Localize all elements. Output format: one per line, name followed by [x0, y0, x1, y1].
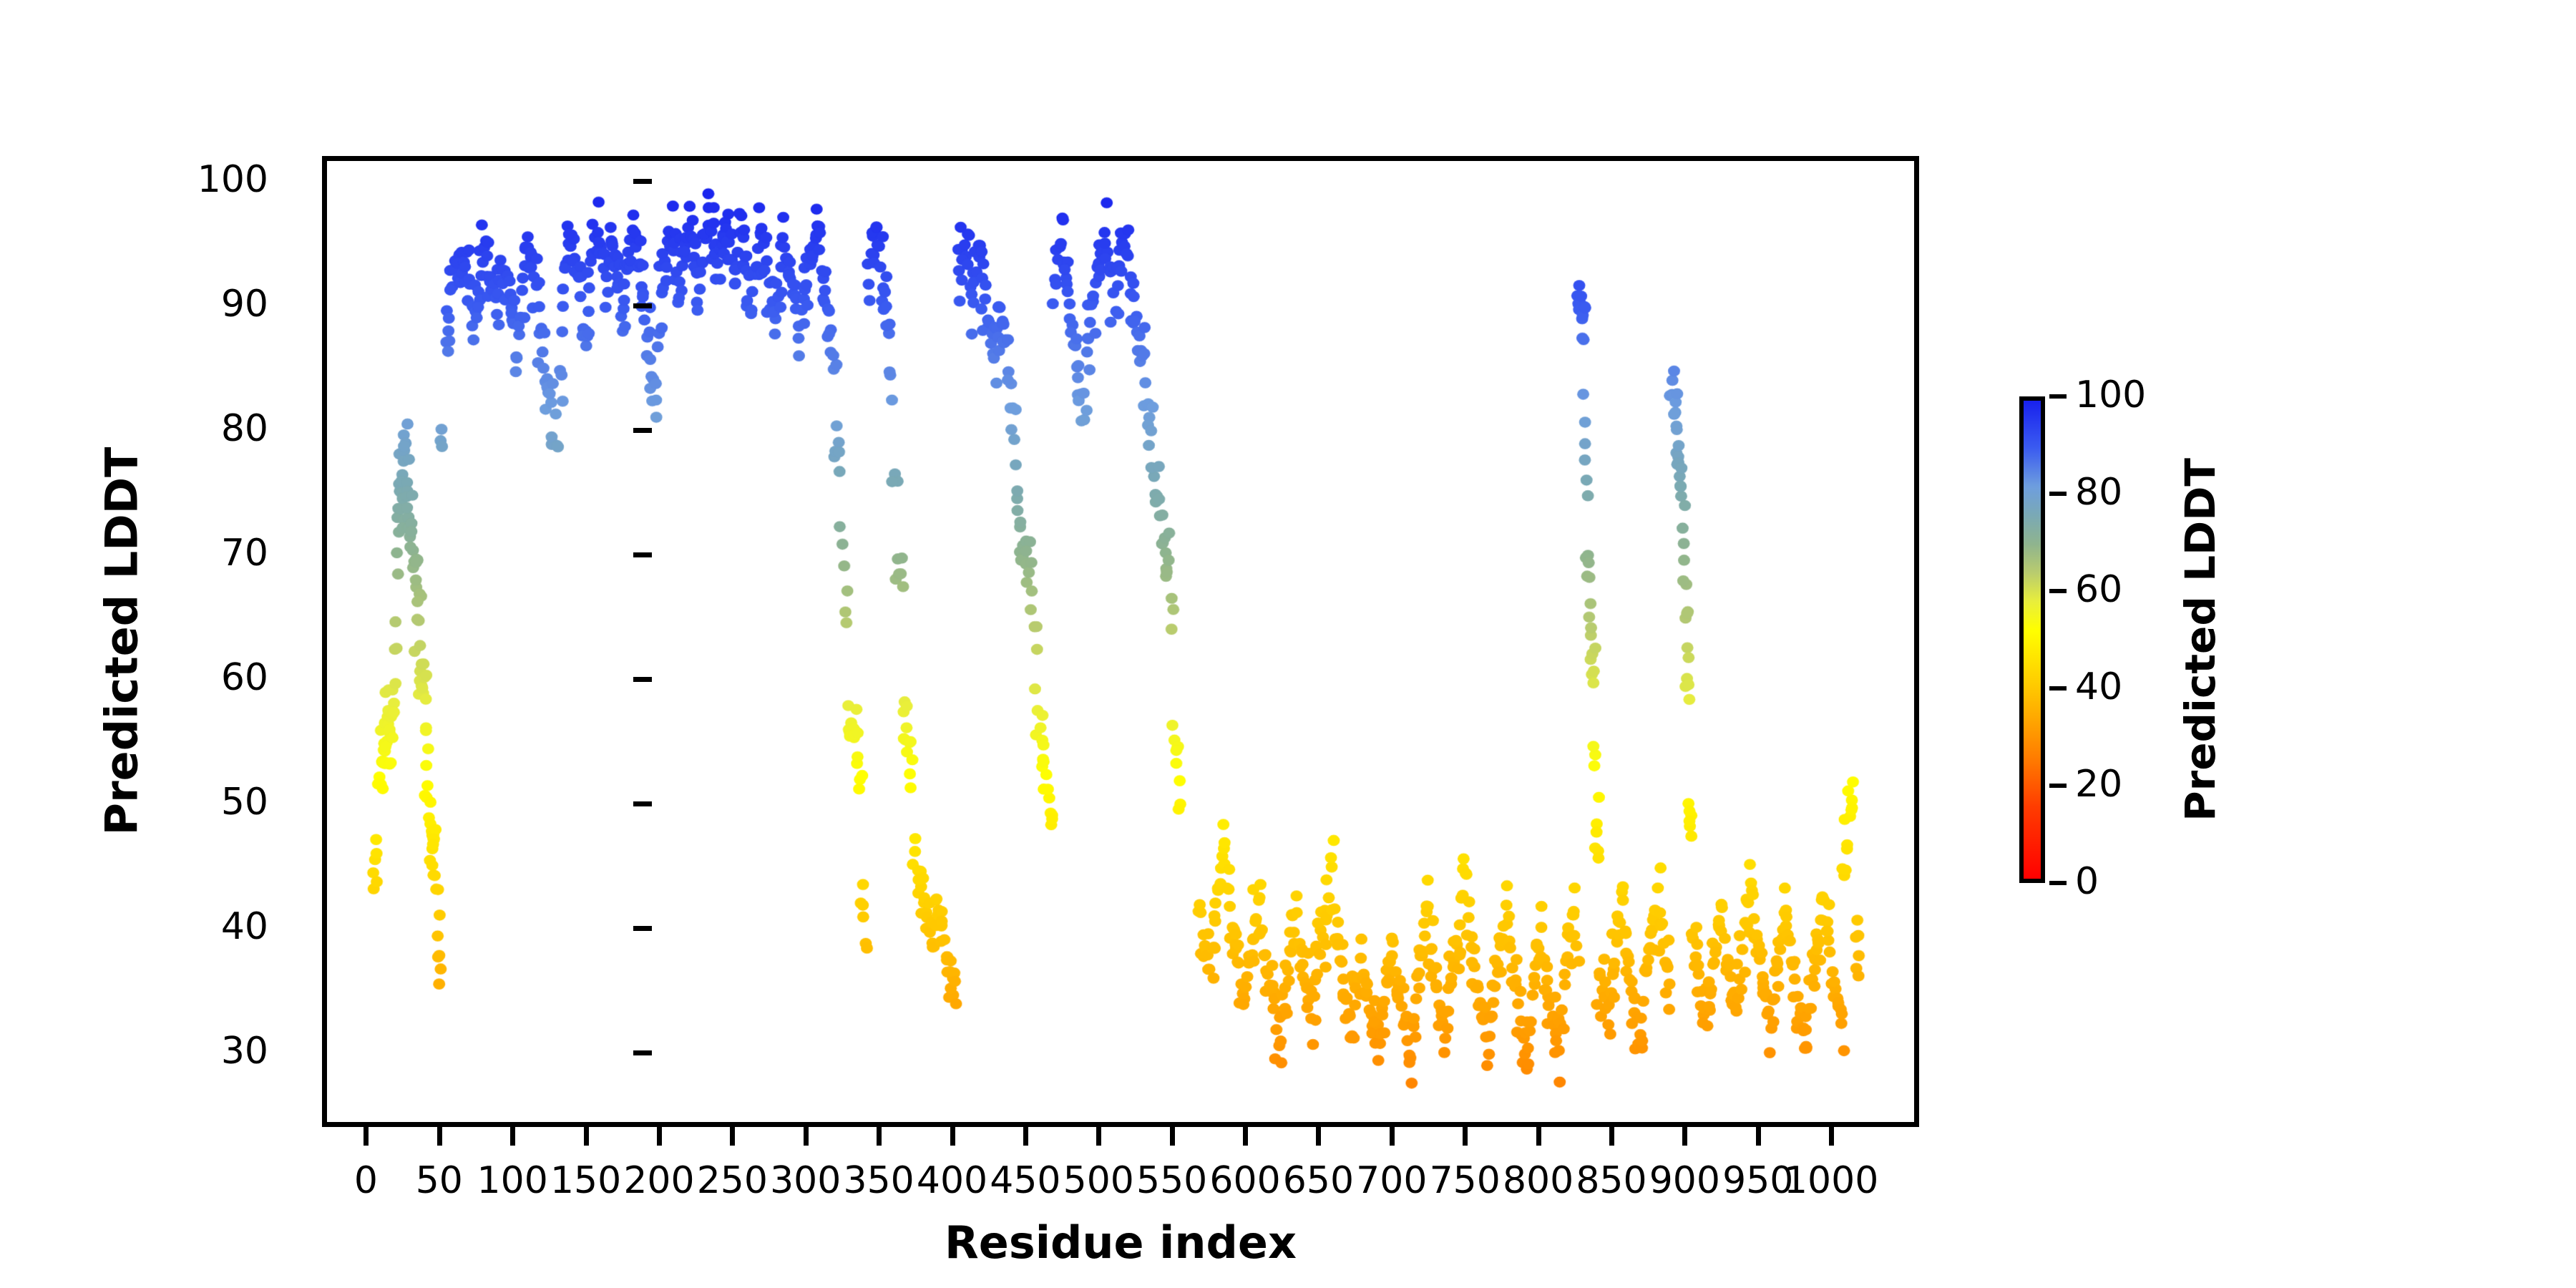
colorbar-tick-mark	[2049, 492, 2067, 496]
colorbar-tick-label: 80	[2075, 471, 2122, 514]
x-tick-mark	[1170, 1127, 1175, 1146]
colorbar-tick-mark	[2049, 686, 2067, 691]
x-tick-mark	[950, 1127, 955, 1146]
colorbar-tick-mark	[2049, 394, 2067, 399]
y-tick-mark	[633, 1050, 652, 1055]
colorbar-tick-label: 60	[2075, 568, 2122, 611]
y-tick-mark	[633, 801, 652, 806]
colorbar-gradient	[2019, 396, 2045, 883]
x-tick-label: 1000	[1767, 1159, 1896, 1202]
x-tick-mark	[1682, 1127, 1687, 1146]
x-tick-mark	[1829, 1127, 1834, 1146]
y-tick-label: 80	[129, 407, 268, 450]
y-tick-mark	[633, 677, 652, 682]
x-tick-mark	[1536, 1127, 1541, 1146]
y-tick-mark	[633, 552, 652, 557]
colorbar-tick-mark	[2049, 589, 2067, 593]
x-tick-mark	[657, 1127, 662, 1146]
x-tick-mark	[1463, 1127, 1468, 1146]
scatter-points-canvas	[327, 161, 1914, 1122]
x-tick-mark	[1756, 1127, 1761, 1146]
scatter-plot-axes	[322, 156, 1919, 1127]
x-tick-mark	[1390, 1127, 1395, 1146]
x-tick-mark	[1243, 1127, 1248, 1146]
x-tick-mark	[510, 1127, 515, 1146]
x-axis-label: Residue index	[322, 1216, 1919, 1269]
x-tick-mark	[1023, 1127, 1028, 1146]
x-tick-mark	[730, 1127, 735, 1146]
figure-root: 30405060708090100 0501001502002503003504…	[0, 0, 2576, 1288]
y-axis-label: Predicted LDDT	[96, 447, 148, 836]
x-tick-mark	[364, 1127, 369, 1146]
colorbar-tick-label: 40	[2075, 665, 2122, 708]
y-tick-mark	[633, 303, 652, 308]
colorbar-tick-mark	[2049, 784, 2067, 788]
y-tick-label: 50	[129, 781, 268, 824]
x-tick-mark	[1316, 1127, 1321, 1146]
colorbar-tick-label: 100	[2075, 374, 2146, 416]
x-tick-mark	[584, 1127, 589, 1146]
x-tick-mark	[1096, 1127, 1101, 1146]
y-tick-label: 30	[129, 1030, 268, 1073]
x-tick-mark	[804, 1127, 809, 1146]
x-tick-mark	[877, 1127, 882, 1146]
colorbar-tick-label: 20	[2075, 763, 2122, 806]
y-tick-label: 60	[129, 656, 268, 699]
y-tick-label: 40	[129, 905, 268, 948]
y-tick-mark	[633, 428, 652, 433]
colorbar-tick-mark	[2049, 881, 2067, 885]
y-tick-mark	[633, 179, 652, 184]
x-tick-mark	[437, 1127, 442, 1146]
y-tick-mark	[633, 926, 652, 931]
colorbar-label: Predicted LDDT	[2176, 458, 2225, 821]
colorbar-tick-label: 0	[2075, 860, 2099, 903]
x-tick-mark	[1609, 1127, 1614, 1146]
y-tick-label: 70	[129, 532, 268, 575]
colorbar	[2019, 396, 2045, 883]
y-tick-label: 90	[129, 283, 268, 326]
y-tick-label: 100	[129, 158, 268, 201]
